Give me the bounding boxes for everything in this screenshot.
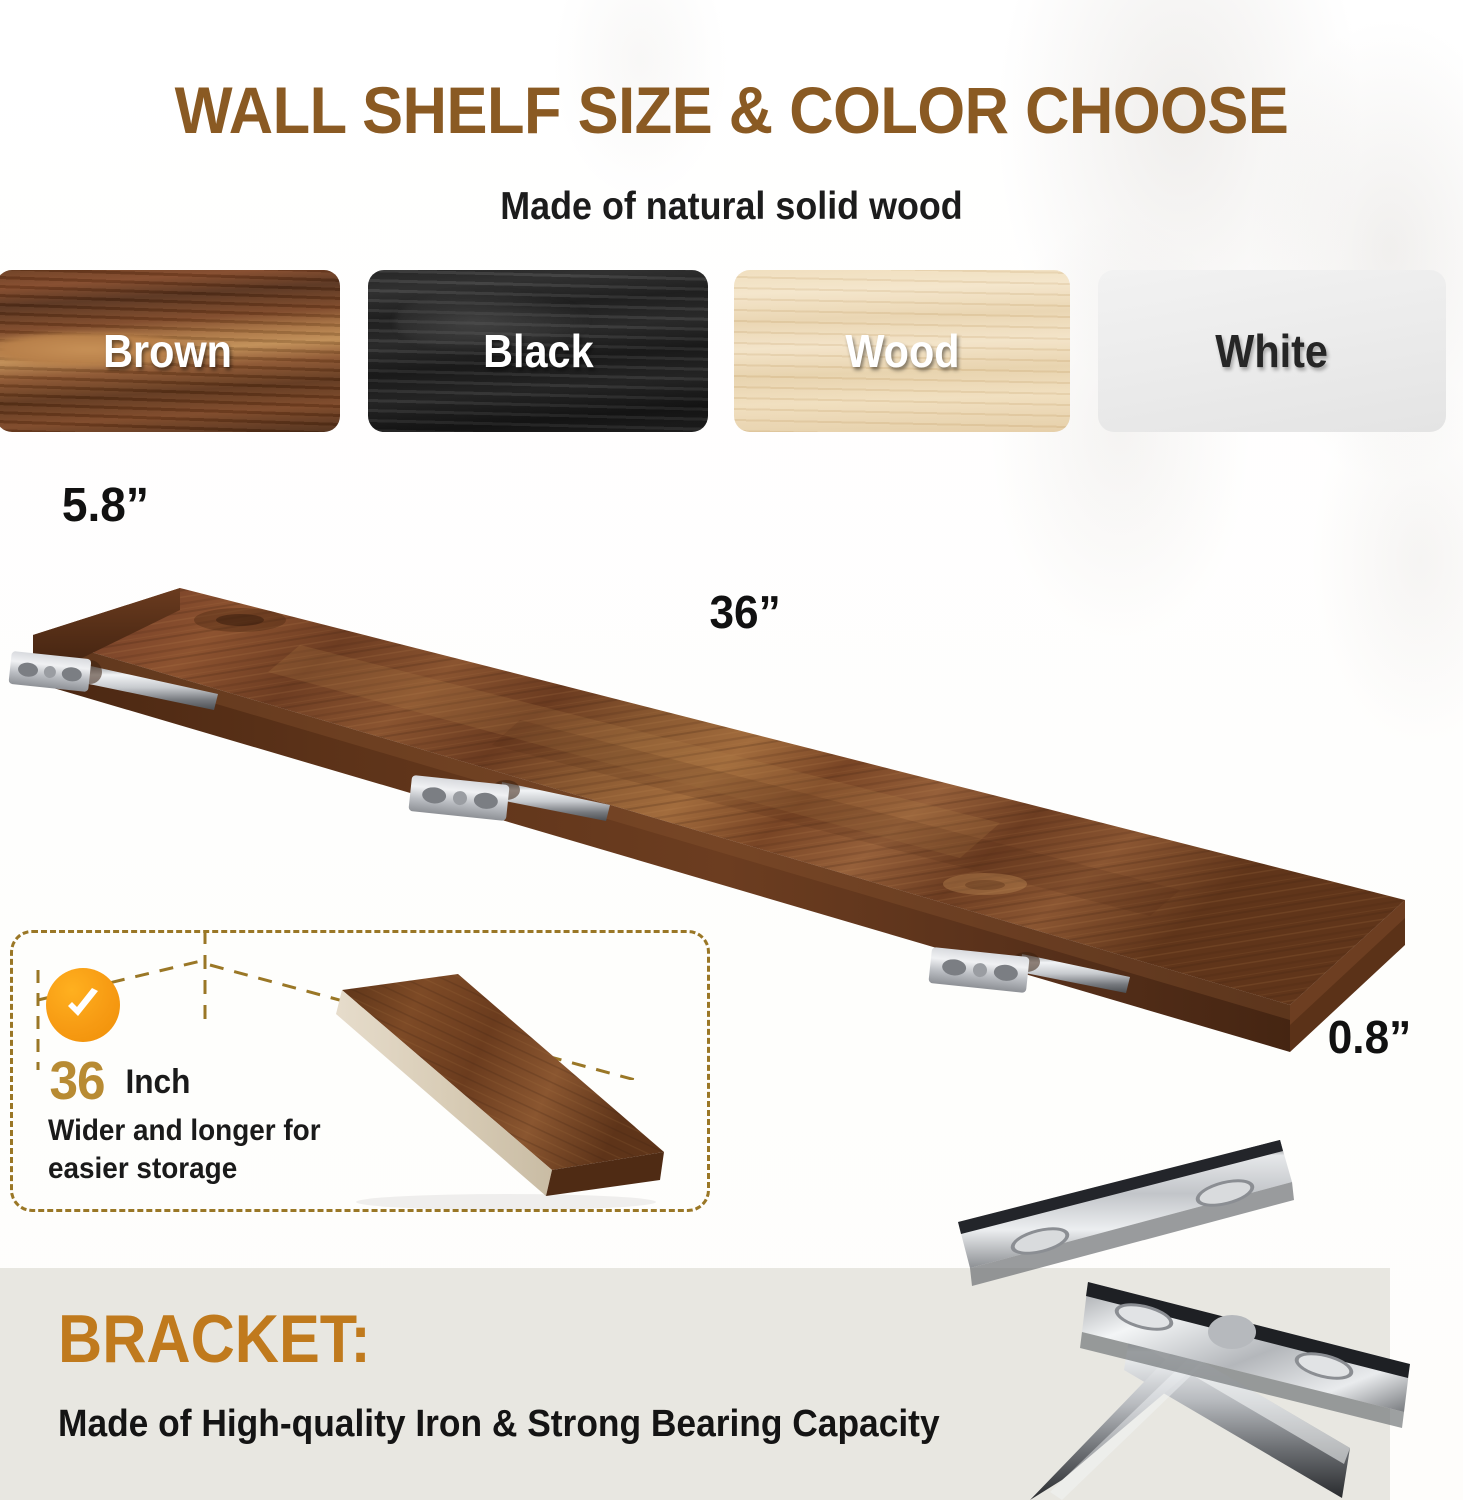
bracket-photo: [880, 1120, 1463, 1500]
swatch-label-brown: Brown: [104, 324, 233, 378]
dimension-thickness-label: 0.8”: [1328, 1010, 1411, 1064]
callout-unit: Inch: [125, 1063, 190, 1102]
swatch-label-white: White: [1216, 324, 1329, 378]
bracket-subtitle: Made of High-quality Iron & Strong Beari…: [58, 1403, 940, 1446]
swatch-wood[interactable]: Wood: [734, 270, 1070, 432]
dimension-length-label: 36”: [709, 585, 780, 639]
infographic-page: WALL SHELF SIZE & COLOR CHOOSE Made of n…: [0, 0, 1463, 1500]
swatch-label-wood: Wood: [845, 324, 959, 378]
page-subtitle: Made of natural solid wood: [59, 185, 1405, 229]
color-swatch-row: Brown Black Wood White: [0, 270, 1463, 432]
swatch-label-black: Black: [483, 324, 593, 378]
swatch-black[interactable]: Black: [368, 270, 708, 432]
check-icon: [46, 968, 120, 1042]
bracket-title: BRACKET:: [58, 1300, 371, 1378]
swatch-white[interactable]: White: [1098, 270, 1446, 432]
page-title: WALL SHELF SIZE & COLOR CHOOSE: [51, 72, 1412, 148]
dimension-depth-label: 5.8”: [62, 478, 149, 533]
shelf-thumbnail: [236, 952, 714, 1212]
callout-number: 36: [49, 1050, 104, 1112]
swatch-brown[interactable]: Brown: [0, 270, 340, 432]
